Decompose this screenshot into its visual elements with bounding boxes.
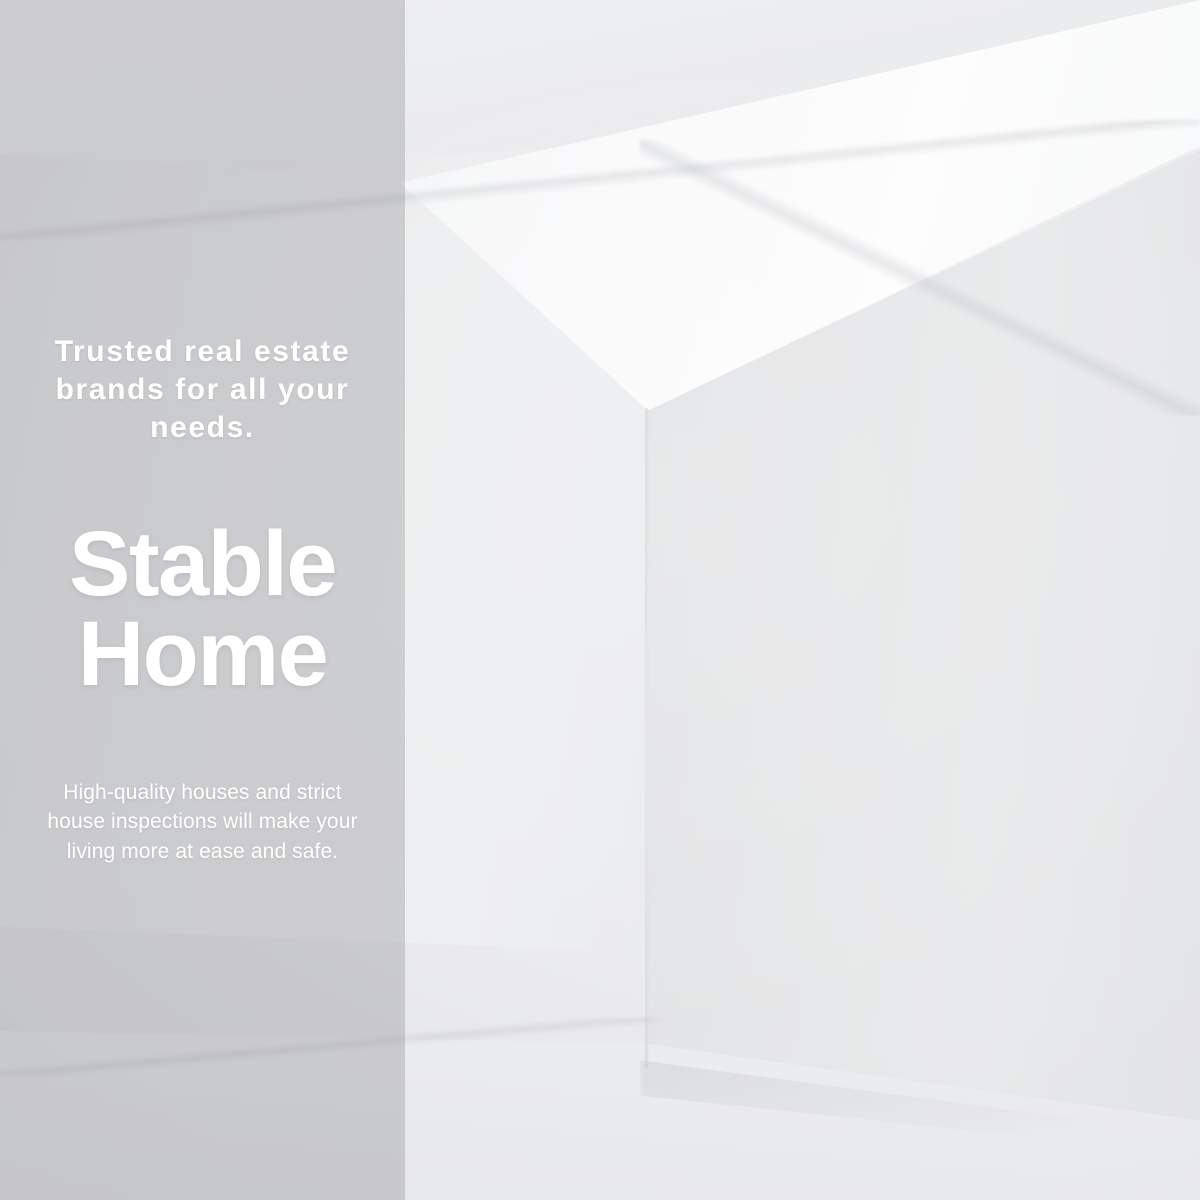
page-title: Stable Home (69, 519, 336, 699)
promo-poster: Trusted real estate brands for all your … (0, 0, 1200, 1200)
headline-line-2: Home (69, 609, 336, 699)
eyebrow-tagline: Trusted real estate brands for all your … (38, 333, 368, 447)
copy-block: Trusted real estate brands for all your … (0, 0, 405, 1200)
headline-line-1: Stable (69, 519, 336, 609)
wall-corner-edge (645, 408, 648, 1068)
soffit-crease-line (640, 140, 1200, 415)
supporting-description: High-quality houses and strict house ins… (43, 778, 363, 867)
